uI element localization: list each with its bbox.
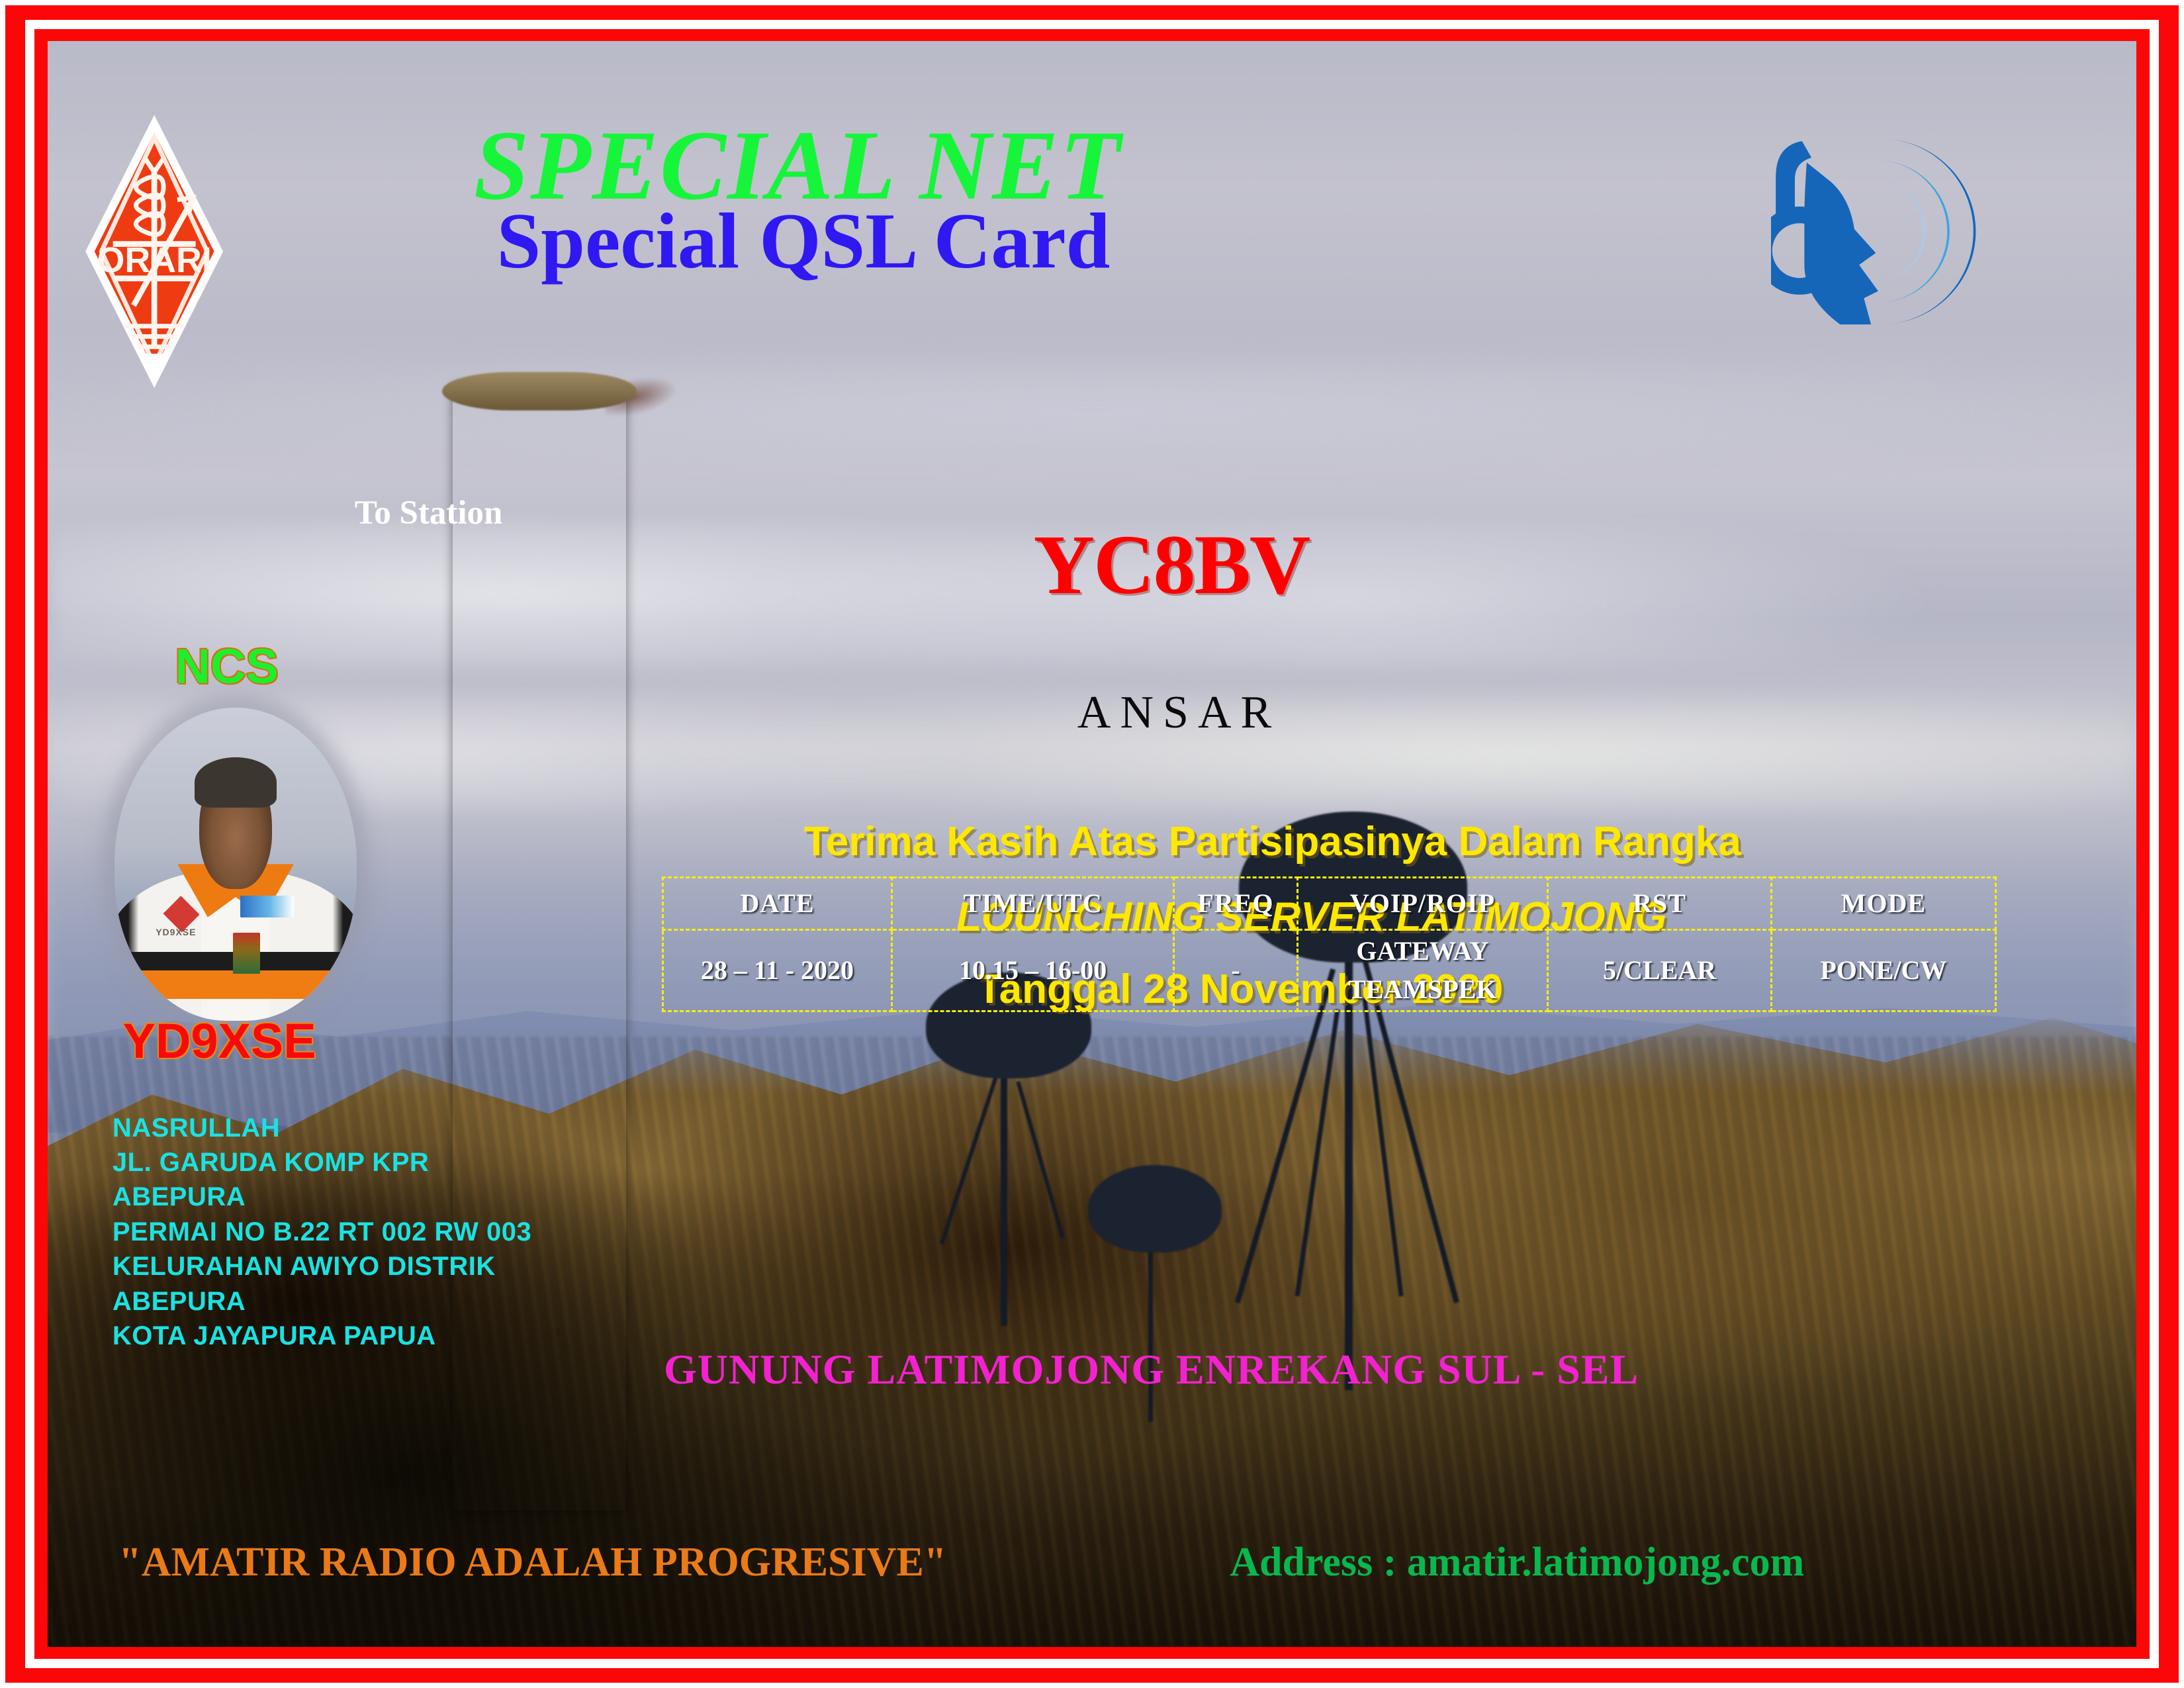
col-header-rst: RST (1547, 877, 1771, 929)
address-line: NASRULLAH (113, 1111, 531, 1145)
orari-logo-text: ORARI (97, 240, 211, 280)
cell-mode: PONE/CW (1772, 929, 1995, 1011)
orari-diamond-logo: ORARI (85, 75, 223, 428)
avatar-shoulder-patch (240, 896, 294, 917)
ncs-label: NCS (175, 638, 279, 694)
address-line: KOTA JAYAPURA PAPUA (113, 1319, 531, 1353)
operator-name: ANSAR (1077, 686, 1281, 739)
cell-date: 28 – 11 - 2020 (662, 929, 891, 1011)
station-callsign: YC8BV (1034, 516, 1310, 614)
avatar-hair (195, 757, 277, 808)
address-line: KELURAHAN AWIYO DISTRIK (113, 1249, 531, 1284)
address-line: ABEPURA (113, 1284, 531, 1319)
page-subtitle: Special QSL Card (497, 195, 1111, 287)
cloud-band-upper (48, 362, 2136, 459)
ncs-operator-avatar: YD9XSE (114, 708, 357, 1021)
address-line: ABEPURA (113, 1180, 531, 1214)
slogan-text: "AMATIR RADIO ADALAH PROGRESIVE" (118, 1539, 946, 1586)
cell-voip-roip-line2: TEAMSPEK (1298, 970, 1547, 1009)
address-line: JL. GARUDA KOMP KPR (113, 1145, 531, 1180)
cell-voip-roip: GATEWAY TEAMSPEK (1297, 929, 1547, 1011)
qso-details-table: DATE TIME/UTC FREQ VOIP/ROIP RST MODE 28… (662, 876, 1997, 1012)
avatar-shirt-callsign: YD9XSE (156, 927, 196, 937)
cell-time: 10.15 – 16-00 (892, 929, 1174, 1011)
avatar-orange-stripe (114, 970, 357, 999)
card-photo-background: ORARI SPECIAL NET Special QSL Card To St… (48, 41, 2136, 1647)
summit-pillar-cap (442, 372, 637, 410)
thankyou-line-1: Terima Kasih Atas Partisipasinya Dalam R… (803, 818, 1741, 865)
location-caption: GUNUNG LATIMOJONG ENREKANG SUL - SEL (664, 1345, 1639, 1394)
headset-profile-logo (1771, 79, 2009, 377)
cell-freq: - (1174, 929, 1298, 1011)
cell-rst: 5/CLEAR (1547, 929, 1771, 1011)
col-header-date: DATE (662, 877, 891, 929)
avatar-id-card (233, 933, 259, 973)
col-header-time: TIME/UTC (892, 877, 1174, 929)
col-header-freq: FREQ (1174, 877, 1298, 929)
to-station-label: To Station (355, 494, 502, 532)
col-header-mode: MODE (1772, 877, 1995, 929)
table-header-row: DATE TIME/UTC FREQ VOIP/ROIP RST MODE (662, 877, 1995, 929)
ncs-callsign: YD9XSE (123, 1013, 316, 1069)
col-header-voip-roip: VOIP/ROIP (1297, 877, 1547, 929)
table-row: 28 – 11 - 2020 10.15 – 16-00 - GATEWAY T… (662, 929, 1995, 1011)
mailing-address: NASRULLAH JL. GARUDA KOMP KPR ABEPURA PE… (113, 1111, 531, 1354)
cell-voip-roip-line1: GATEWAY (1298, 932, 1547, 970)
qsl-card: ORARI SPECIAL NET Special QSL Card To St… (0, 0, 2184, 1688)
website-address: Address : amatir.latimojong.com (1230, 1539, 1804, 1586)
address-line: PERMAI NO B.22 RT 002 RW 003 (113, 1215, 531, 1249)
